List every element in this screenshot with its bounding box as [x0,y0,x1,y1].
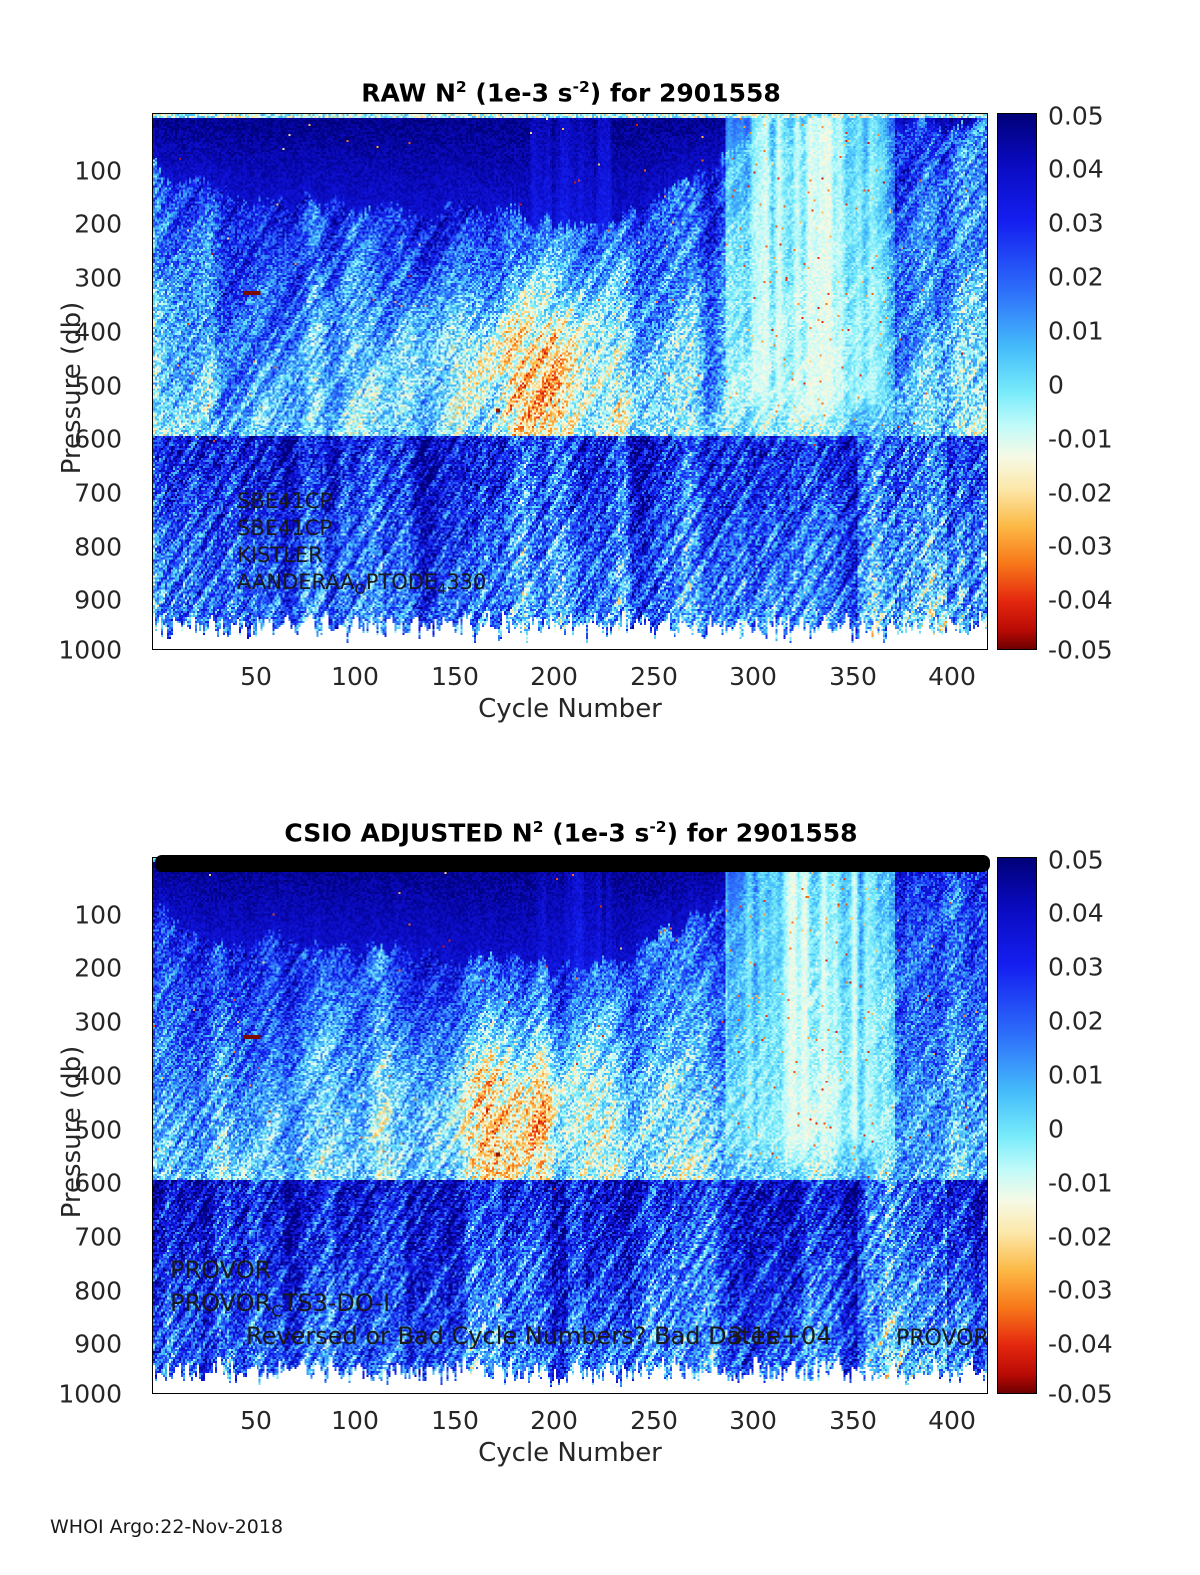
raw-cbar-label-10: -0.05 [1048,636,1113,665]
adjusted-cbar-label-2: 0.03 [1048,953,1104,982]
raw-ytick-600: 600 [30,425,122,454]
raw-xaxis-label: Cycle Number [152,694,988,724]
adjusted-xtick-100: 100 [331,1406,379,1435]
adjusted-cbar-label-4: 0.01 [1048,1061,1104,1090]
raw-ytick-400: 400 [30,318,122,347]
raw-cbar-label-4: 0.01 [1048,317,1104,346]
adjusted-plot-title: CSIO ADJUSTED N2 (1e-3 s-2) for 2901558 [152,818,990,847]
adjusted-cbar-label-6: -0.01 [1048,1169,1113,1198]
adjusted-xtick-50: 50 [240,1406,272,1435]
raw-title-end: ) for 2901558 [590,78,781,107]
adjusted-xtick-400: 400 [928,1406,976,1435]
raw-cbar-label-1: 0.04 [1048,155,1104,184]
raw-cbar-label-3: 0.02 [1048,263,1104,292]
raw-cbar-label-5: 0 [1048,371,1064,400]
adjusted-ytick-1000: 1000 [10,1380,122,1409]
raw-ytick-200: 200 [30,210,122,239]
adjusted-cbar-label-5: 0 [1048,1115,1064,1144]
raw-heatmap-field [153,114,987,649]
adjusted-xaxis-label: Cycle Number [152,1438,988,1468]
raw-annot-sbe41cp-2: SBE41CP [237,518,332,539]
adjusted-cbar-label-0: 0.05 [1048,846,1104,875]
raw-annot-aanderaa-optode: AANDERAAOPTODE4330 [237,572,486,597]
adjusted-ytick-900: 900 [30,1330,122,1359]
raw-ytick-900: 900 [30,586,122,615]
raw-cbar-label-2: 0.03 [1048,209,1104,238]
adjusted-cbar-label-9: -0.04 [1048,1330,1113,1359]
adjusted-cbar-label-7: -0.02 [1048,1223,1113,1252]
raw-plot-title: RAW N2 (1e-3 s-2) for 2901558 [152,78,990,107]
raw-xtick-300: 300 [729,662,777,691]
raw-colorbar-gradient [998,114,1036,649]
raw-xtick-100: 100 [331,662,379,691]
adjusted-ytick-300: 300 [30,1008,122,1037]
raw-xtick-250: 250 [630,662,678,691]
raw-title-superscript-neg2: -2 [573,78,590,96]
adjusted-xtick-300: 300 [729,1406,777,1435]
raw-xtick-150: 150 [431,662,479,691]
adjusted-colorbar [997,857,1037,1394]
adjusted-title-superscript-neg2: -2 [649,818,666,836]
adjusted-cbar-label-3: 0.02 [1048,1007,1104,1036]
adjusted-colorbar-gradient [998,858,1036,1393]
adjusted-xtick-200: 200 [530,1406,578,1435]
adjusted-xtick-350: 350 [829,1406,877,1435]
raw-cbar-label-0: 0.05 [1048,102,1104,131]
raw-title-mid: (1e-3 s [467,78,573,107]
adjusted-title-main: CSIO ADJUSTED N [284,818,532,847]
adjusted-cbar-label-10: -0.05 [1048,1380,1113,1409]
adjusted-annot-bad-cycles: Reversed or Bad Cycle Numbers? Bad Dates [246,1324,778,1348]
adjusted-ytick-200: 200 [30,954,122,983]
raw-ytick-700: 700 [30,479,122,508]
adjusted-title-mid: (1e-3 s [544,818,650,847]
raw-ytick-300: 300 [30,264,122,293]
footer-credit: WHOI Argo:22-Nov-2018 [50,1516,283,1538]
adjusted-annot-provor-cts3: PROVORCTS3-DO-I [170,1291,390,1320]
adjusted-ytick-700: 700 [30,1223,122,1252]
adjusted-xtick-150: 150 [431,1406,479,1435]
raw-ytick-500: 500 [30,372,122,401]
raw-cbar-label-8: -0.03 [1048,532,1113,561]
adjusted-ytick-500: 500 [30,1116,122,1145]
adjusted-ytick-400: 400 [30,1062,122,1091]
raw-xtick-350: 350 [829,662,877,691]
raw-ytick-100: 100 [30,157,122,186]
raw-xtick-50: 50 [240,662,272,691]
adjusted-annot-value-overlap: 3.1e+04 [728,1324,832,1348]
raw-colorbar [997,113,1037,650]
raw-cbar-label-9: -0.04 [1048,586,1113,615]
raw-ytick-1000: 1000 [10,636,122,665]
raw-annot-kistler: KISTLER [237,545,323,566]
adjusted-cbar-label-8: -0.03 [1048,1276,1113,1305]
adjusted-xtick-250: 250 [630,1406,678,1435]
adjusted-annot-provor-1: PROVOR [170,1258,271,1282]
raw-xtick-400: 400 [928,662,976,691]
adjusted-ytick-800: 800 [30,1277,122,1306]
raw-title-main: RAW N [361,78,456,107]
adjusted-title-end: ) for 2901558 [667,818,858,847]
raw-cbar-label-6: -0.01 [1048,425,1113,454]
adjusted-ytick-600: 600 [30,1169,122,1198]
raw-annot-sbe41cp-1: SBE41CP [237,491,332,512]
raw-ytick-800: 800 [30,533,122,562]
adjusted-title-superscript-2: 2 [533,818,544,836]
raw-xtick-200: 200 [530,662,578,691]
adjusted-ytick-100: 100 [30,901,122,930]
adjusted-top-black-bar [155,855,990,872]
raw-title-superscript-2: 2 [456,78,467,96]
raw-cbar-label-7: -0.02 [1048,479,1113,508]
adjusted-annot-provor-right: PROVOR [896,1328,989,1350]
adjusted-cbar-label-1: 0.04 [1048,899,1104,928]
